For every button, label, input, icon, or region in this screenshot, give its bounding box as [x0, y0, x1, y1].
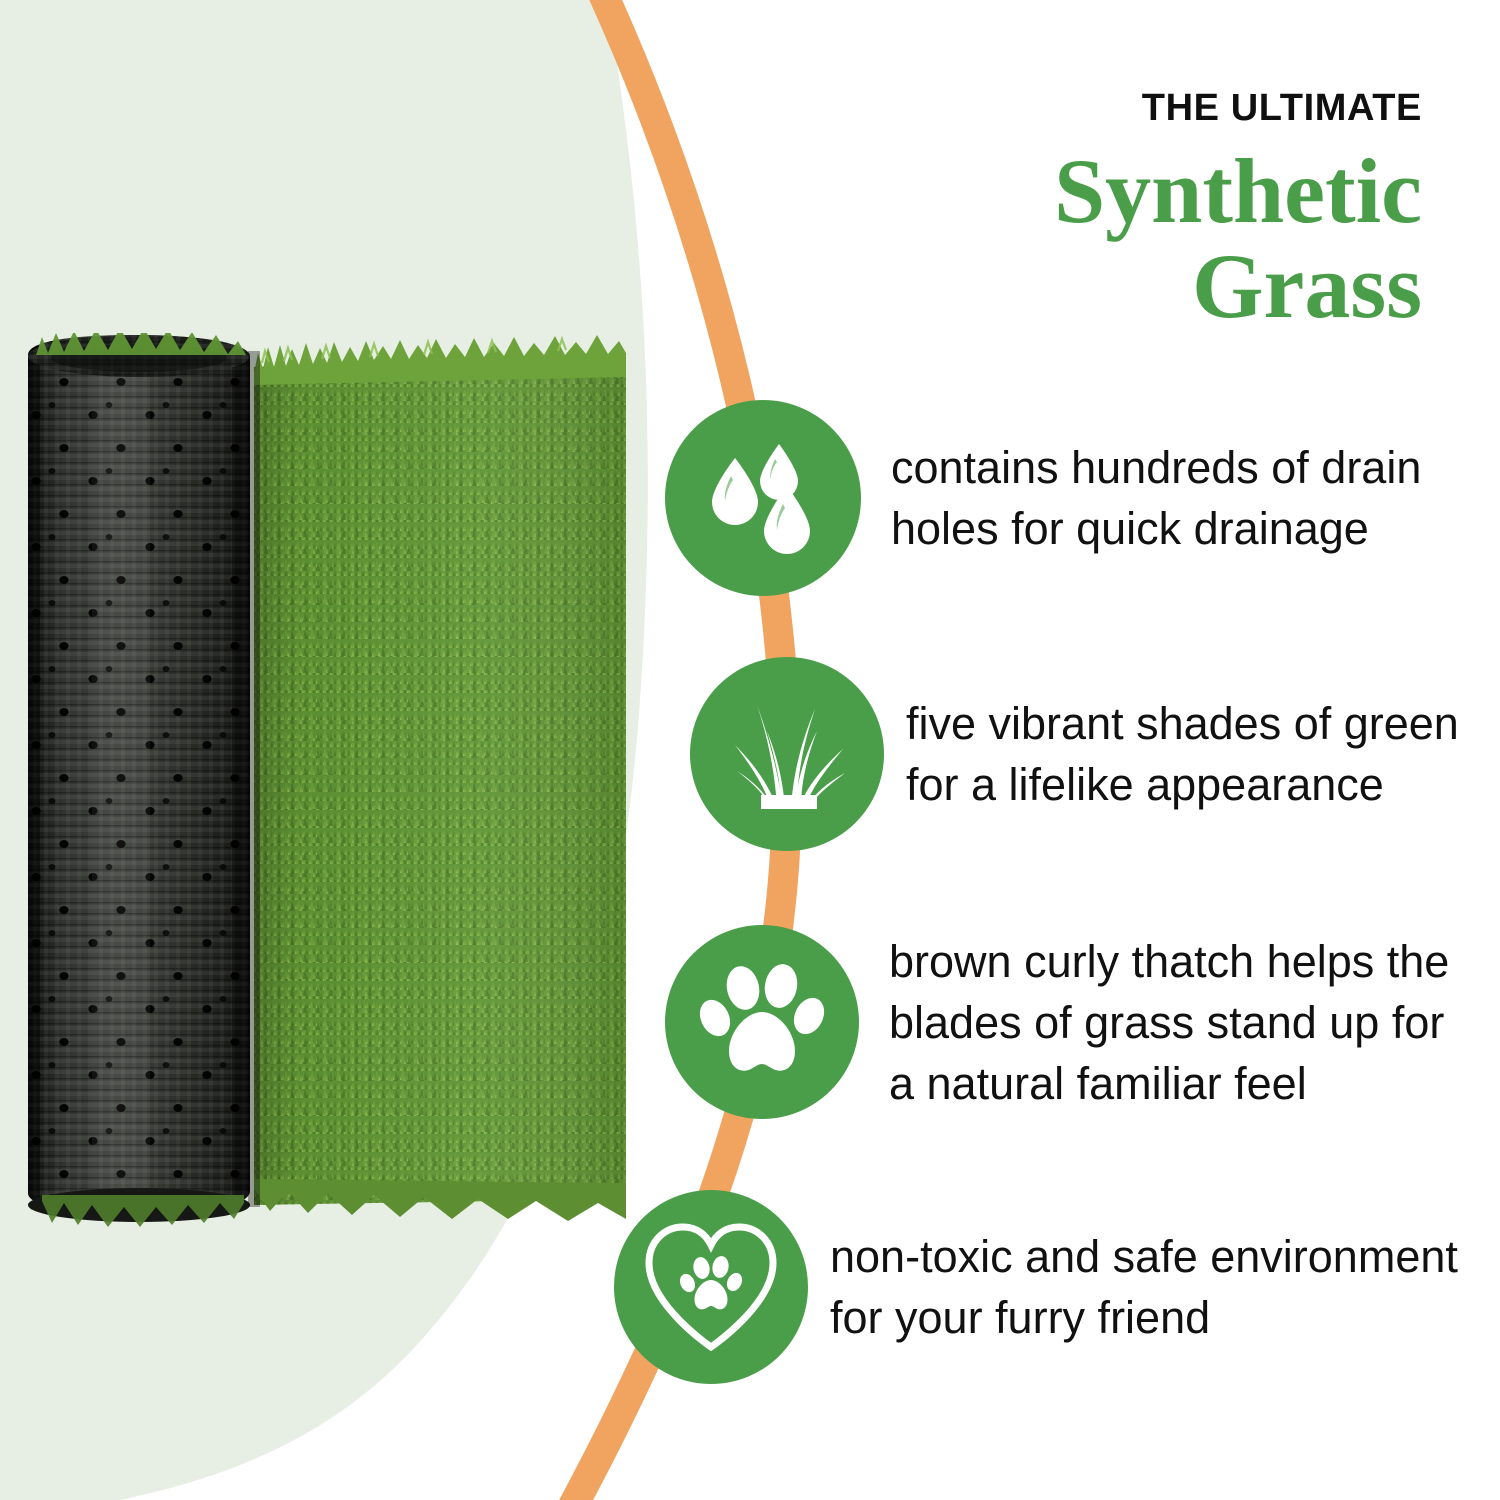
infographic-page: THE ULTIMATE Synthetic Grass contains hu…: [0, 0, 1500, 1500]
feature-row-thatch: brown curly thatch helps the blades of g…: [665, 925, 1449, 1119]
product-photo: [22, 333, 630, 1228]
headline-block: THE ULTIMATE Synthetic Grass: [662, 88, 1422, 333]
turf-top-edge: [254, 335, 626, 385]
water-drops-icon: [704, 442, 822, 554]
page-title-line-1: Synthetic: [662, 144, 1422, 239]
feature-text-shades: five vibrant shades of green for a lifel…: [906, 693, 1459, 815]
feature-icon-circle: [665, 925, 859, 1119]
paw-print-icon: [699, 960, 825, 1084]
feature-row-nontoxic: non-toxic and safe environment for your …: [614, 1190, 1458, 1384]
page-title-line-2: Grass: [662, 239, 1422, 334]
heart-paw-icon: [641, 1219, 781, 1355]
feature-icon-circle: [690, 657, 884, 851]
feature-row-drainage: contains hundreds of drain holes for qui…: [665, 400, 1421, 596]
grass-tuft-icon: [721, 695, 853, 813]
eyebrow-text: THE ULTIMATE: [662, 88, 1422, 130]
feature-text-thatch: brown curly thatch helps the blades of g…: [889, 931, 1449, 1114]
drainage-backing-roll: [22, 333, 258, 1228]
turf-bottom-edge: [254, 1179, 626, 1221]
feature-text-drainage: contains hundreds of drain holes for qui…: [891, 437, 1421, 559]
feature-icon-circle: [665, 400, 861, 596]
feature-icon-circle: [614, 1190, 808, 1384]
feature-row-shades: five vibrant shades of green for a lifel…: [690, 657, 1459, 851]
roll-turf-seam: [248, 351, 260, 1207]
feature-text-nontoxic: non-toxic and safe environment for your …: [830, 1226, 1458, 1348]
turf-surface: [250, 333, 630, 1228]
